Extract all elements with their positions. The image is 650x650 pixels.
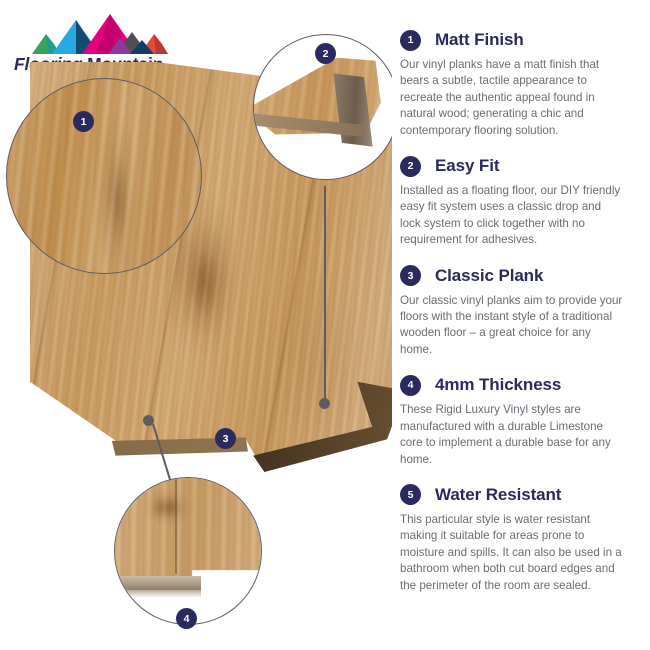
- feature-title-2: Easy Fit: [435, 156, 499, 176]
- leader-dot-2: [319, 398, 330, 409]
- feature-body-4: These Rigid Luxury Vinyl styles are manu…: [400, 402, 624, 468]
- plank-core-layer: [114, 576, 201, 590]
- feature-title-1: Matt Finish: [435, 30, 524, 50]
- feature-item-thickness: 4 4mm Thickness These Rigid Luxury Vinyl…: [400, 373, 640, 468]
- infographic-page: Flooring Mountain 1 2: [0, 0, 650, 650]
- feature-body-1: Our vinyl planks have a matt finish that…: [400, 57, 624, 139]
- feature-badge-1: 1: [400, 30, 421, 51]
- feature-item-matt-finish: 1 Matt Finish Our vinyl planks have a ma…: [400, 28, 640, 139]
- feature-body-3: Our classic vinyl planks aim to provide …: [400, 293, 624, 359]
- leader-dot-4: [143, 415, 154, 426]
- image-badge-1: 1: [73, 111, 94, 132]
- feature-body-5: This particular style is water resistant…: [400, 512, 624, 594]
- plank-drop-shadow: [114, 590, 201, 598]
- feature-title-5: Water Resistant: [435, 485, 561, 505]
- feature-item-easy-fit: 2 Easy Fit Installed as a floating floor…: [400, 154, 640, 249]
- feature-badge-4: 4: [400, 375, 421, 396]
- feature-header: 3 Classic Plank: [400, 264, 640, 288]
- feature-header: 4 4mm Thickness: [400, 373, 640, 397]
- feature-item-water-resistant: 5 Water Resistant This particular style …: [400, 483, 640, 594]
- callout-circle-matt-finish: [6, 78, 202, 274]
- feature-title-4: 4mm Thickness: [435, 375, 561, 395]
- image-badge-4: 4: [176, 608, 197, 629]
- feature-header: 2 Easy Fit: [400, 154, 640, 178]
- feature-badge-5: 5: [400, 484, 421, 505]
- feature-title-3: Classic Plank: [435, 266, 543, 286]
- feature-item-classic-plank: 3 Classic Plank Our classic vinyl planks…: [400, 264, 640, 359]
- image-badge-3: 3: [215, 428, 236, 449]
- feature-header: 5 Water Resistant: [400, 483, 640, 507]
- plank-seam: [175, 477, 177, 574]
- callout-circle-thickness: [114, 477, 262, 625]
- feature-header: 1 Matt Finish: [400, 28, 640, 52]
- leader-line-2: [324, 186, 326, 402]
- product-image-stage: 1 2 3 4: [0, 0, 392, 650]
- feature-list: 1 Matt Finish Our vinyl planks have a ma…: [400, 28, 640, 609]
- feature-badge-2: 2: [400, 156, 421, 177]
- image-badge-2: 2: [315, 43, 336, 64]
- feature-body-2: Installed as a floating floor, our DIY f…: [400, 183, 624, 249]
- plank-top-surface: [114, 477, 262, 584]
- feature-badge-3: 3: [400, 265, 421, 286]
